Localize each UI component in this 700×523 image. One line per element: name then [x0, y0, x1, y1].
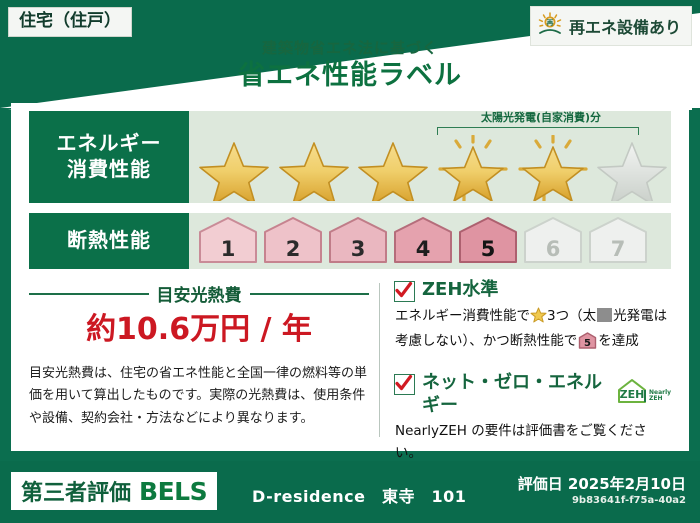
energy-performance-row: エネルギー 消費性能 太陽光発電(自家消費)分 — [29, 111, 671, 203]
small-star-icon — [530, 307, 547, 331]
net-zero-energy-title: ネット・ゼロ・エネルギー — [422, 372, 611, 417]
title-block: 建築物省エネ法に基づく 省エネ性能ラベル — [0, 40, 700, 92]
insulation-performance-row: 断熱性能 1 2 — [29, 213, 671, 269]
star-5-filled-solar — [514, 135, 592, 201]
solar-annotation: 太陽光発電(自家消費)分 — [425, 112, 657, 124]
energy-performance-label: エネルギー 消費性能 — [29, 111, 189, 203]
star-rating — [189, 135, 671, 201]
insulation-level-1-number: 1 — [221, 237, 236, 261]
title-main: 省エネ性能ラベル — [0, 59, 700, 93]
bels-plate: 第三者評価 BELS — [11, 472, 217, 510]
certification-zeh-standard: ZEH水準 — [394, 279, 671, 302]
utility-cost-heading: 目安光熱費 — [29, 279, 369, 306]
insulation-level-7: 7 — [587, 216, 649, 264]
zeh-body-mid: 3つ（太 — [547, 308, 596, 324]
renewable-energy-badge: 再 再エネ設備あり — [530, 6, 692, 46]
checkbox-checked-icon-2 — [394, 374, 415, 395]
heading-rule-right — [250, 293, 370, 295]
energy-performance-label: 住宅（住戸） 再 再エネ設備あり 建築物省エネ法に基づく 省エネ — [0, 0, 700, 523]
zeh-body-end: を達成 — [598, 333, 639, 349]
insulation-performance-body: 1 2 3 — [189, 213, 671, 269]
energy-label-line1: エネルギー — [57, 131, 162, 157]
insulation-level-1: 1 — [197, 216, 259, 264]
bels-jp-label: 第三者評価 — [21, 475, 131, 507]
insulation-level-4-number: 4 — [416, 237, 431, 261]
insulation-level-4: 4 — [392, 216, 454, 264]
censor-block — [597, 308, 612, 322]
insulation-performance-label: 断熱性能 — [29, 213, 189, 269]
evaluation-id: 9b83641f-f75a-40a2 — [518, 495, 686, 507]
solar-annotation-label: 太陽光発電(自家消費)分 — [425, 112, 657, 124]
lower-section: 目安光熱費 約10.6万円 / 年 目安光熱費は、住宅の省エネ性能と全国一律の燃… — [29, 279, 671, 443]
utility-cost-panel: 目安光熱費 約10.6万円 / 年 目安光熱費は、住宅の省エネ性能と全国一律の燃… — [29, 279, 369, 443]
insulation-level-6: 6 — [522, 216, 584, 264]
zeh-standard-body: エネルギー消費性能で3つ（太光発電は考慮しない）、かつ断熱性能で5を達成 — [395, 306, 671, 356]
net-zero-energy-title-row: ネット・ゼロ・エネルギー ZEH Nearly ZEH — [422, 372, 671, 417]
sun-renewable-icon: 再 — [537, 12, 563, 40]
zeh-standard-title: ZEH水準 — [422, 279, 498, 302]
net-zero-energy-body: NearlyZEH の要件は評価書をご覧ください。 — [395, 421, 671, 464]
insulation-level-2-number: 2 — [286, 237, 301, 261]
footer-bar: 第三者評価 BELS D-residence 東寺 101 評価日 2025年2… — [0, 461, 700, 523]
insulation-level-7-number: 7 — [611, 237, 626, 261]
certification-panel: ZEH水準 エネルギー消費性能で3つ（太光発電は考慮しない）、かつ断熱性能で5を… — [394, 279, 671, 443]
utility-cost-note: 目安光熱費は、住宅の省エネ性能と全国一律の燃料等の単価を用いて算出したものです。… — [29, 363, 369, 431]
energy-performance-body: 太陽光発電(自家消費)分 — [189, 111, 671, 203]
insulation-level-2: 2 — [262, 216, 324, 264]
bels-en-label: BELS — [139, 477, 207, 506]
zeh-body-pre: エネルギー消費性能で — [395, 308, 530, 324]
utility-cost-value: 約10.6万円 / 年 — [29, 311, 369, 349]
building-name: D-residence 東寺 101 — [252, 483, 466, 507]
svg-text:5: 5 — [584, 338, 591, 349]
insulation-level-3: 3 — [327, 216, 389, 264]
solar-bracket — [437, 127, 639, 135]
house-type-tag: 住宅（住戸） — [8, 7, 132, 37]
heading-rule-left — [29, 293, 149, 295]
insulation-level-3-number: 3 — [351, 237, 366, 261]
evaluation-info: 評価日 2025年2月10日 9b83641f-f75a-40a2 — [518, 475, 686, 507]
panel-divider — [379, 283, 380, 437]
renewable-badge-label: 再エネ設備あり — [569, 14, 681, 38]
energy-label-line2: 消費性能 — [67, 157, 151, 183]
zeh-nearly-logo: ZEH Nearly ZEH — [615, 377, 671, 412]
insulation-level-5-achieved: 5 — [457, 216, 519, 264]
main-card: エネルギー 消費性能 太陽光発電(自家消費)分 — [11, 103, 689, 451]
star-4-filled-solar — [434, 135, 512, 201]
utility-cost-heading-text: 目安光熱費 — [157, 281, 242, 306]
star-3-filled — [354, 135, 432, 201]
insulation-level-5-number: 5 — [481, 237, 496, 261]
star-1-filled — [195, 135, 273, 201]
svg-text:ZEH: ZEH — [620, 388, 645, 401]
evaluation-date: 評価日 2025年2月10日 — [518, 475, 686, 493]
inline-house-badge-5: 5 — [578, 332, 597, 357]
checkbox-checked-icon — [394, 281, 415, 302]
svg-text:再: 再 — [546, 19, 553, 27]
insulation-label-text: 断熱性能 — [67, 228, 151, 254]
star-2-filled — [275, 135, 353, 201]
certification-net-zero-energy: ネット・ゼロ・エネルギー ZEH Nearly ZEH — [394, 372, 671, 417]
star-6-empty — [593, 135, 671, 201]
insulation-level-6-number: 6 — [546, 237, 561, 261]
insulation-scale: 1 2 3 — [197, 216, 649, 264]
svg-text:ZEH: ZEH — [649, 395, 662, 402]
